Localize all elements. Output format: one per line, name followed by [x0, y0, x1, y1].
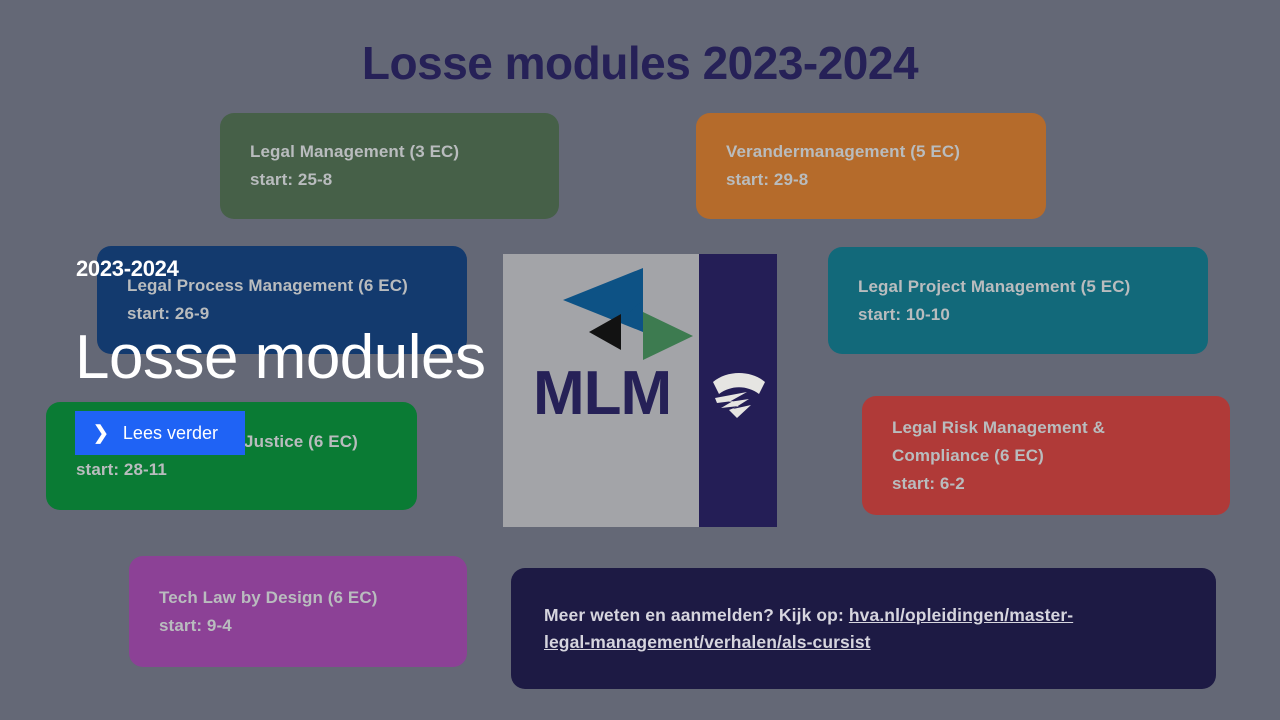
- module-name: Verandermanagement (5 EC): [726, 138, 1016, 166]
- slide-canvas: Losse modules 2023-2024 Legal Management…: [0, 0, 1280, 720]
- overlay-year-label: 2023-2024: [76, 256, 179, 282]
- module-start-date: start: 29-8: [726, 166, 1016, 194]
- overlay-heading: Losse modules: [75, 320, 486, 396]
- module-name-line2: Compliance (6 EC): [892, 442, 1200, 470]
- module-name: Tech Law by Design (6 EC): [159, 584, 437, 612]
- hva-link-line1[interactable]: hva.nl/opleidingen/master-: [849, 605, 1073, 625]
- hva-link-line2[interactable]: legal-management/verhalen/als-cursist: [544, 632, 871, 652]
- footer-intro: Meer weten en aanmelden? Kijk op:: [544, 605, 849, 625]
- lees-verder-label: Lees verder: [123, 424, 218, 442]
- module-card-legal-management[interactable]: Legal Management (3 EC) start: 25-8: [220, 113, 559, 219]
- mlm-logo-text: MLM: [533, 359, 671, 429]
- footer-text: Meer weten en aanmelden? Kijk op: hva.nl…: [544, 602, 1073, 656]
- module-card-legal-risk-management[interactable]: Legal Risk Management & Compliance (6 EC…: [862, 396, 1230, 515]
- chevron-right-icon: ❯: [93, 424, 109, 443]
- module-card-tech-law-by-design[interactable]: Tech Law by Design (6 EC) start: 9-4: [129, 556, 467, 667]
- page-title: Losse modules 2023-2024: [0, 34, 1280, 92]
- module-start-date: start: 28-11: [76, 456, 387, 484]
- module-name: Legal Project Management (5 EC): [858, 273, 1178, 301]
- module-name: Legal Management (3 EC): [250, 138, 529, 166]
- module-start-date: start: 25-8: [250, 166, 529, 194]
- mlm-logo: MLM: [503, 254, 777, 527]
- info-card-footer[interactable]: Meer weten en aanmelden? Kijk op: hva.nl…: [511, 568, 1216, 689]
- module-start-date: start: 6-2: [892, 470, 1200, 498]
- lees-verder-button[interactable]: ❯ Lees verder: [75, 411, 245, 455]
- module-name: Legal Risk Management &: [892, 414, 1200, 442]
- hva-logo-icon: [707, 362, 771, 426]
- module-start-date: start: 10-10: [858, 301, 1178, 329]
- module-start-date: start: 9-4: [159, 612, 437, 640]
- mlm-flag-icon: [533, 264, 693, 369]
- module-card-verandermanagement[interactable]: Verandermanagement (5 EC) start: 29-8: [696, 113, 1046, 219]
- module-card-legal-project-management[interactable]: Legal Project Management (5 EC) start: 1…: [828, 247, 1208, 354]
